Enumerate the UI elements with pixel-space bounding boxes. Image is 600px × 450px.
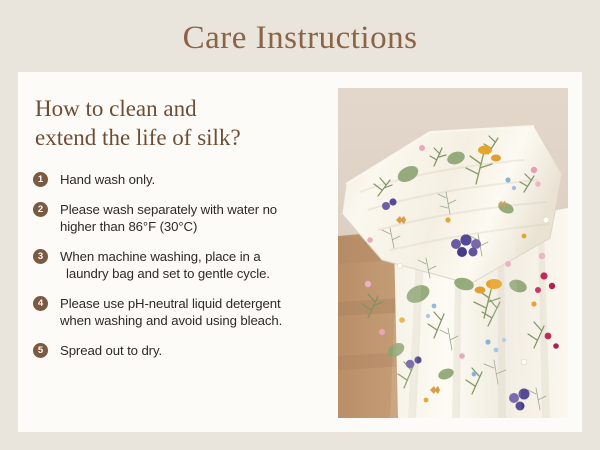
step-number-badge: 3 [33, 249, 48, 264]
list-item: 1 Hand wash only. [33, 171, 343, 189]
step-text: When machine washing, place in a laundry… [60, 248, 343, 283]
step-text: Spread out to dry. [60, 342, 343, 360]
step-number-badge: 1 [33, 172, 48, 187]
step-text: Hand wash only. [60, 171, 343, 189]
step-line-2: when washing and avoid using bleach. [60, 312, 343, 330]
step-number-badge: 2 [33, 202, 48, 217]
step-line-1: Please use pH-neutral liquid detergent [60, 296, 281, 311]
care-instructions-poster: Care Instructions How to clean and exten… [0, 0, 600, 450]
step-text: Please use pH-neutral liquid detergent w… [60, 295, 343, 330]
subtitle-line-2: extend the life of silk? [35, 125, 241, 150]
step-line-1: Hand wash only. [60, 172, 155, 187]
subtitle-line-1: How to clean and [35, 96, 197, 121]
list-item: 4 Please use pH-neutral liquid detergent… [33, 295, 343, 330]
step-number-badge: 4 [33, 296, 48, 311]
care-steps-list: 1 Hand wash only. 2 Please wash separate… [33, 171, 343, 359]
step-text: Please wash separately with water no hig… [60, 201, 343, 236]
list-item: 3 When machine washing, place in a laund… [33, 248, 343, 283]
page-title: Care Instructions [0, 18, 600, 58]
step-line-1: When machine washing, place in a [60, 249, 261, 264]
step-line-2: laundry bag and set to gentle cycle. [60, 265, 343, 283]
step-number-badge: 5 [33, 343, 48, 358]
step-line-2: higher than 86°F (30°C) [60, 218, 343, 236]
section-subtitle: How to clean and extend the life of silk… [35, 94, 343, 152]
product-photo-illustration [338, 88, 568, 418]
step-line-1: Spread out to dry. [60, 343, 162, 358]
list-item: 5 Spread out to dry. [33, 342, 343, 360]
list-item: 2 Please wash separately with water no h… [33, 201, 343, 236]
product-photo [338, 88, 568, 418]
step-line-1: Please wash separately with water no [60, 202, 277, 217]
instructions-column: How to clean and extend the life of silk… [33, 94, 343, 414]
content-card: How to clean and extend the life of silk… [18, 72, 582, 432]
